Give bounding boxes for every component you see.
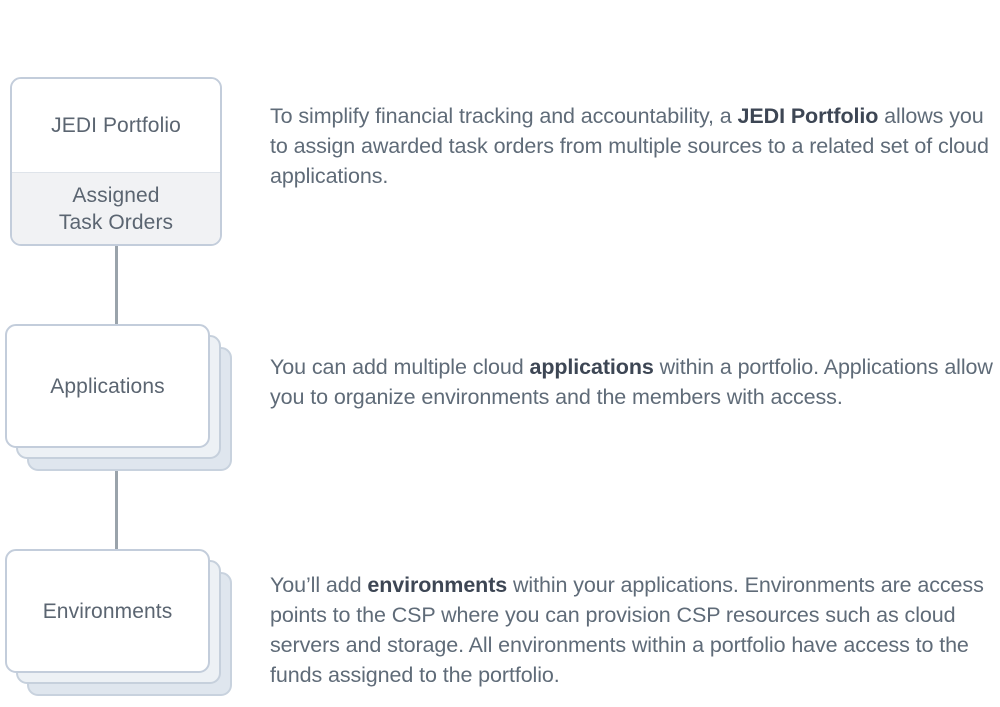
- emphasized-term: applications: [529, 355, 653, 379]
- emphasized-term: environments: [367, 573, 507, 597]
- node-environments: Environments: [0, 545, 250, 705]
- node-jedi-portfolio-subsection: Assigned Task Orders: [12, 173, 220, 244]
- node-environments-label: Environments: [43, 598, 173, 625]
- node-jedi-portfolio-header: JEDI Portfolio: [12, 79, 220, 172]
- node-environments-stack-layer-front: Environments: [5, 549, 210, 673]
- node-jedi-portfolio-label: JEDI Portfolio: [51, 112, 181, 139]
- description-text: You’ll add: [270, 573, 367, 597]
- node-applications-stack-layer-front: Applications: [5, 324, 210, 448]
- node-jedi-portfolio-sublabel: Assigned Task Orders: [59, 182, 173, 236]
- node-applications-label: Applications: [50, 373, 164, 400]
- description-text: You can add multiple cloud: [270, 355, 529, 379]
- description-environments: You’ll add environments within your appl…: [270, 570, 1000, 690]
- description-text: To simplify financial tracking and accou…: [270, 104, 738, 128]
- emphasized-term: JEDI Portfolio: [738, 104, 879, 128]
- description-jedi-portfolio: To simplify financial tracking and accou…: [270, 101, 1000, 191]
- description-applications: You can add multiple cloud applications …: [270, 352, 1000, 412]
- node-applications: Applications: [0, 320, 250, 480]
- diagram-canvas: JEDI Portfolio Assigned Task Orders Appl…: [0, 0, 1000, 707]
- connector-portfolio-to-applications: [115, 244, 118, 328]
- node-jedi-portfolio: JEDI Portfolio Assigned Task Orders: [10, 77, 222, 246]
